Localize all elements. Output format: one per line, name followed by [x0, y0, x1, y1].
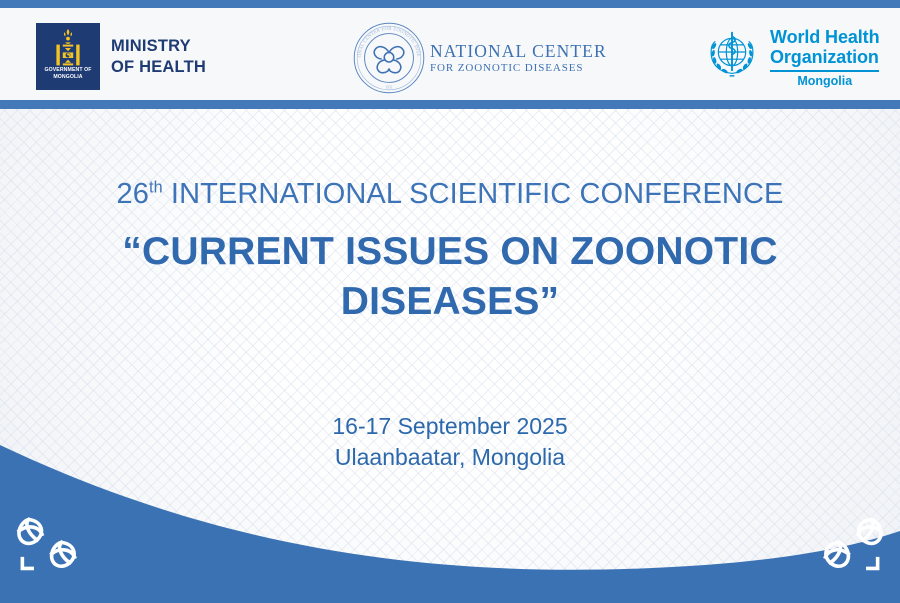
who-name-line-1: World Health — [770, 27, 879, 47]
conference-subtitle: INTERNATIONAL SCIENTIFIC CONFERENCE — [171, 178, 784, 210]
mongolia-government-emblem: GOVERNMENT OF MONGOLIA — [36, 23, 100, 90]
emblem-caption-line-1: GOVERNMENT OF — [36, 67, 100, 74]
who-logo: World Health Organization Mongolia — [702, 27, 879, 88]
mongolia-soyombo-emblem-icon — [36, 27, 100, 67]
ministry-of-health-logo: GOVERNMENT OF MONGOLIA MINISTRY OF HEALT… — [36, 23, 206, 90]
biohazard-seal-icon: NATIONAL CENTER FOR ZOONOTIC DISEASES 19… — [352, 21, 426, 95]
ministry-of-health-name: MINISTRY OF HEALTH — [111, 36, 206, 78]
page-title: “CURRENT ISSUES ON ZOONOTIC DISEASES” — [90, 227, 810, 327]
mongolian-knot-ornament-icon — [14, 513, 96, 575]
who-wordmark: World Health Organization Mongolia — [770, 27, 879, 88]
conference-number: 26 — [117, 178, 149, 210]
who-name-line-2: Organization — [770, 47, 879, 67]
header-accent-rule — [0, 100, 900, 109]
footer-wave-decoration — [0, 443, 900, 603]
national-center-name-line-2: FOR ZOONOTIC DISEASES — [430, 61, 607, 75]
conference-dates: 16-17 September 2025 — [0, 411, 900, 442]
logo-row: GOVERNMENT OF MONGOLIA MINISTRY OF HEALT… — [0, 8, 900, 100]
who-country-label: Mongolia — [770, 74, 879, 88]
top-accent-rule — [0, 0, 900, 8]
ministry-name-line-2: OF HEALTH — [111, 57, 206, 78]
national-center-name: NATIONAL CENTER FOR ZOONOTIC DISEASES — [430, 41, 607, 75]
ministry-name-line-1: MINISTRY — [111, 36, 206, 57]
conference-ordinal-suffix: th — [149, 178, 163, 196]
who-divider — [770, 70, 879, 72]
mongolian-knot-ornament-icon — [804, 513, 886, 575]
emblem-caption: GOVERNMENT OF MONGOLIA — [36, 67, 100, 81]
emblem-caption-line-2: MONGOLIA — [36, 74, 100, 81]
national-center-logo: NATIONAL CENTER FOR ZOONOTIC DISEASES 19… — [352, 21, 607, 95]
conference-edition-line: 26th INTERNATIONAL SCIENTIFIC CONFERENCE — [0, 177, 900, 211]
svg-text:1951: 1951 — [385, 85, 393, 89]
national-center-name-line-1: NATIONAL CENTER — [430, 41, 607, 61]
conference-title-slide: GOVERNMENT OF MONGOLIA MINISTRY OF HEALT… — [0, 0, 900, 603]
who-emblem-icon — [702, 27, 762, 83]
